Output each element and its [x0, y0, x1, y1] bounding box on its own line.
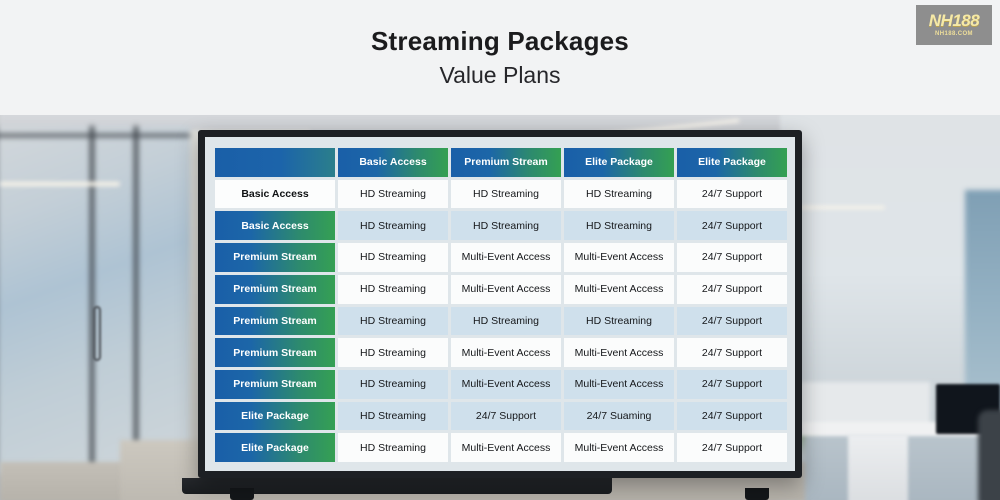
table-cell: 24/7 Support [451, 402, 561, 431]
row-label: Elite Package [215, 402, 335, 431]
table-cell: 24/7 Support [677, 370, 787, 399]
title-block: Streaming Packages Value Plans [0, 26, 1000, 90]
table-row: Basic AccessHD StreamingHD StreamingHD S… [215, 211, 787, 240]
table-cell: HD Streaming [338, 402, 448, 431]
column-header: Premium Stream [451, 148, 561, 177]
table-cell: Multi-Event Access [451, 275, 561, 304]
table-cell: HD Streaming [338, 433, 448, 462]
table-cell: Multi-Event Access [451, 338, 561, 367]
table-cell: HD Streaming [338, 211, 448, 240]
table-cell: HD Streaming [451, 307, 561, 336]
row-label: Premium Stream [215, 243, 335, 272]
table-row: Elite PackageHD Streaming24/7 Support24/… [215, 402, 787, 431]
table-header-row: Basic AccessPremium StreamElite PackageE… [215, 148, 787, 177]
table-cell: 24/7 Support [677, 275, 787, 304]
row-label: Premium Stream [215, 338, 335, 367]
table-cell: Multi-Event Access [564, 370, 674, 399]
glass-mullion [0, 134, 190, 137]
tv-stand-foot [230, 488, 254, 500]
table-row: Basic AccessHD StreamingHD StreamingHD S… [215, 180, 787, 209]
glass-mullion [90, 126, 94, 474]
table-cell: Multi-Event Access [451, 370, 561, 399]
table-cell: Multi-Event Access [451, 243, 561, 272]
door-handle [93, 306, 101, 361]
table-cell: HD Streaming [338, 338, 448, 367]
page-subtitle: Value Plans [0, 60, 1000, 90]
table-row: Premium StreamHD StreamingHD StreamingHD… [215, 307, 787, 336]
table-row: Premium StreamHD StreamingMulti-Event Ac… [215, 275, 787, 304]
table-cell: HD Streaming [338, 307, 448, 336]
table-cell: HD Streaming [338, 243, 448, 272]
nh188-logo: NH188 NH188.COM [916, 5, 992, 45]
comparison-table: Basic AccessPremium StreamElite PackageE… [215, 148, 787, 462]
tv-screen: Basic AccessPremium StreamElite PackageE… [205, 137, 795, 471]
table-cell: 24/7 Support [677, 307, 787, 336]
wall-light-accent [790, 206, 885, 209]
row-label: Basic Access [215, 180, 335, 209]
table-row: Premium StreamHD StreamingMulti-Event Ac… [215, 338, 787, 367]
row-label: Premium Stream [215, 370, 335, 399]
window [965, 190, 1000, 410]
table-cell: 24/7 Support [677, 402, 787, 431]
table-cell: HD Streaming [564, 180, 674, 209]
drawer-cabinet [848, 434, 908, 500]
glass-partition-wall [0, 126, 190, 474]
table-cell: HD Streaming [564, 307, 674, 336]
television: Basic AccessPremium StreamElite PackageE… [198, 130, 802, 478]
table-corner-cell [215, 148, 335, 177]
table-cell: Multi-Event Access [564, 338, 674, 367]
table-cell: HD Streaming [338, 370, 448, 399]
column-header: Elite Package [564, 148, 674, 177]
table-row: Premium StreamHD StreamingMulti-Event Ac… [215, 370, 787, 399]
screenshot-root: Streaming Packages Value Plans NH188 NH1… [0, 0, 1000, 500]
table-cell: 24/7 Support [677, 243, 787, 272]
table-cell: 24/7 Support [677, 211, 787, 240]
table-row: Premium StreamHD StreamingMulti-Event Ac… [215, 243, 787, 272]
wall-light-accent [0, 182, 120, 186]
table-cell: 24/7 Support [677, 338, 787, 367]
table-cell: HD Streaming [338, 275, 448, 304]
table-row: Elite PackageHD StreamingMulti-Event Acc… [215, 433, 787, 462]
row-label: Basic Access [215, 211, 335, 240]
table-cell: Multi-Event Access [564, 243, 674, 272]
logo-domain: NH188.COM [935, 30, 973, 38]
table-cell: 24/7 Suaming [564, 402, 674, 431]
logo-wordmark: NH188 [929, 12, 979, 29]
column-header: Elite Package [677, 148, 787, 177]
table-cell: 24/7 Support [677, 180, 787, 209]
table-cell: HD Streaming [451, 180, 561, 209]
table-cell: 24/7 Support [677, 433, 787, 462]
table-cell: HD Streaming [564, 211, 674, 240]
table-cell: HD Streaming [338, 180, 448, 209]
table-cell: HD Streaming [451, 211, 561, 240]
glass-mullion [134, 126, 138, 474]
title-banner: Streaming Packages Value Plans NH188 NH1… [0, 0, 1000, 115]
page-title: Streaming Packages [0, 26, 1000, 56]
column-header: Basic Access [338, 148, 448, 177]
table-cell: Multi-Event Access [564, 275, 674, 304]
row-label: Elite Package [215, 433, 335, 462]
desk-partition [795, 382, 930, 427]
row-label: Premium Stream [215, 307, 335, 336]
tv-stand-foot [745, 488, 769, 500]
table-cell: Multi-Event Access [564, 433, 674, 462]
table-cell: Multi-Event Access [451, 433, 561, 462]
row-label: Premium Stream [215, 275, 335, 304]
office-chair [978, 410, 1000, 500]
